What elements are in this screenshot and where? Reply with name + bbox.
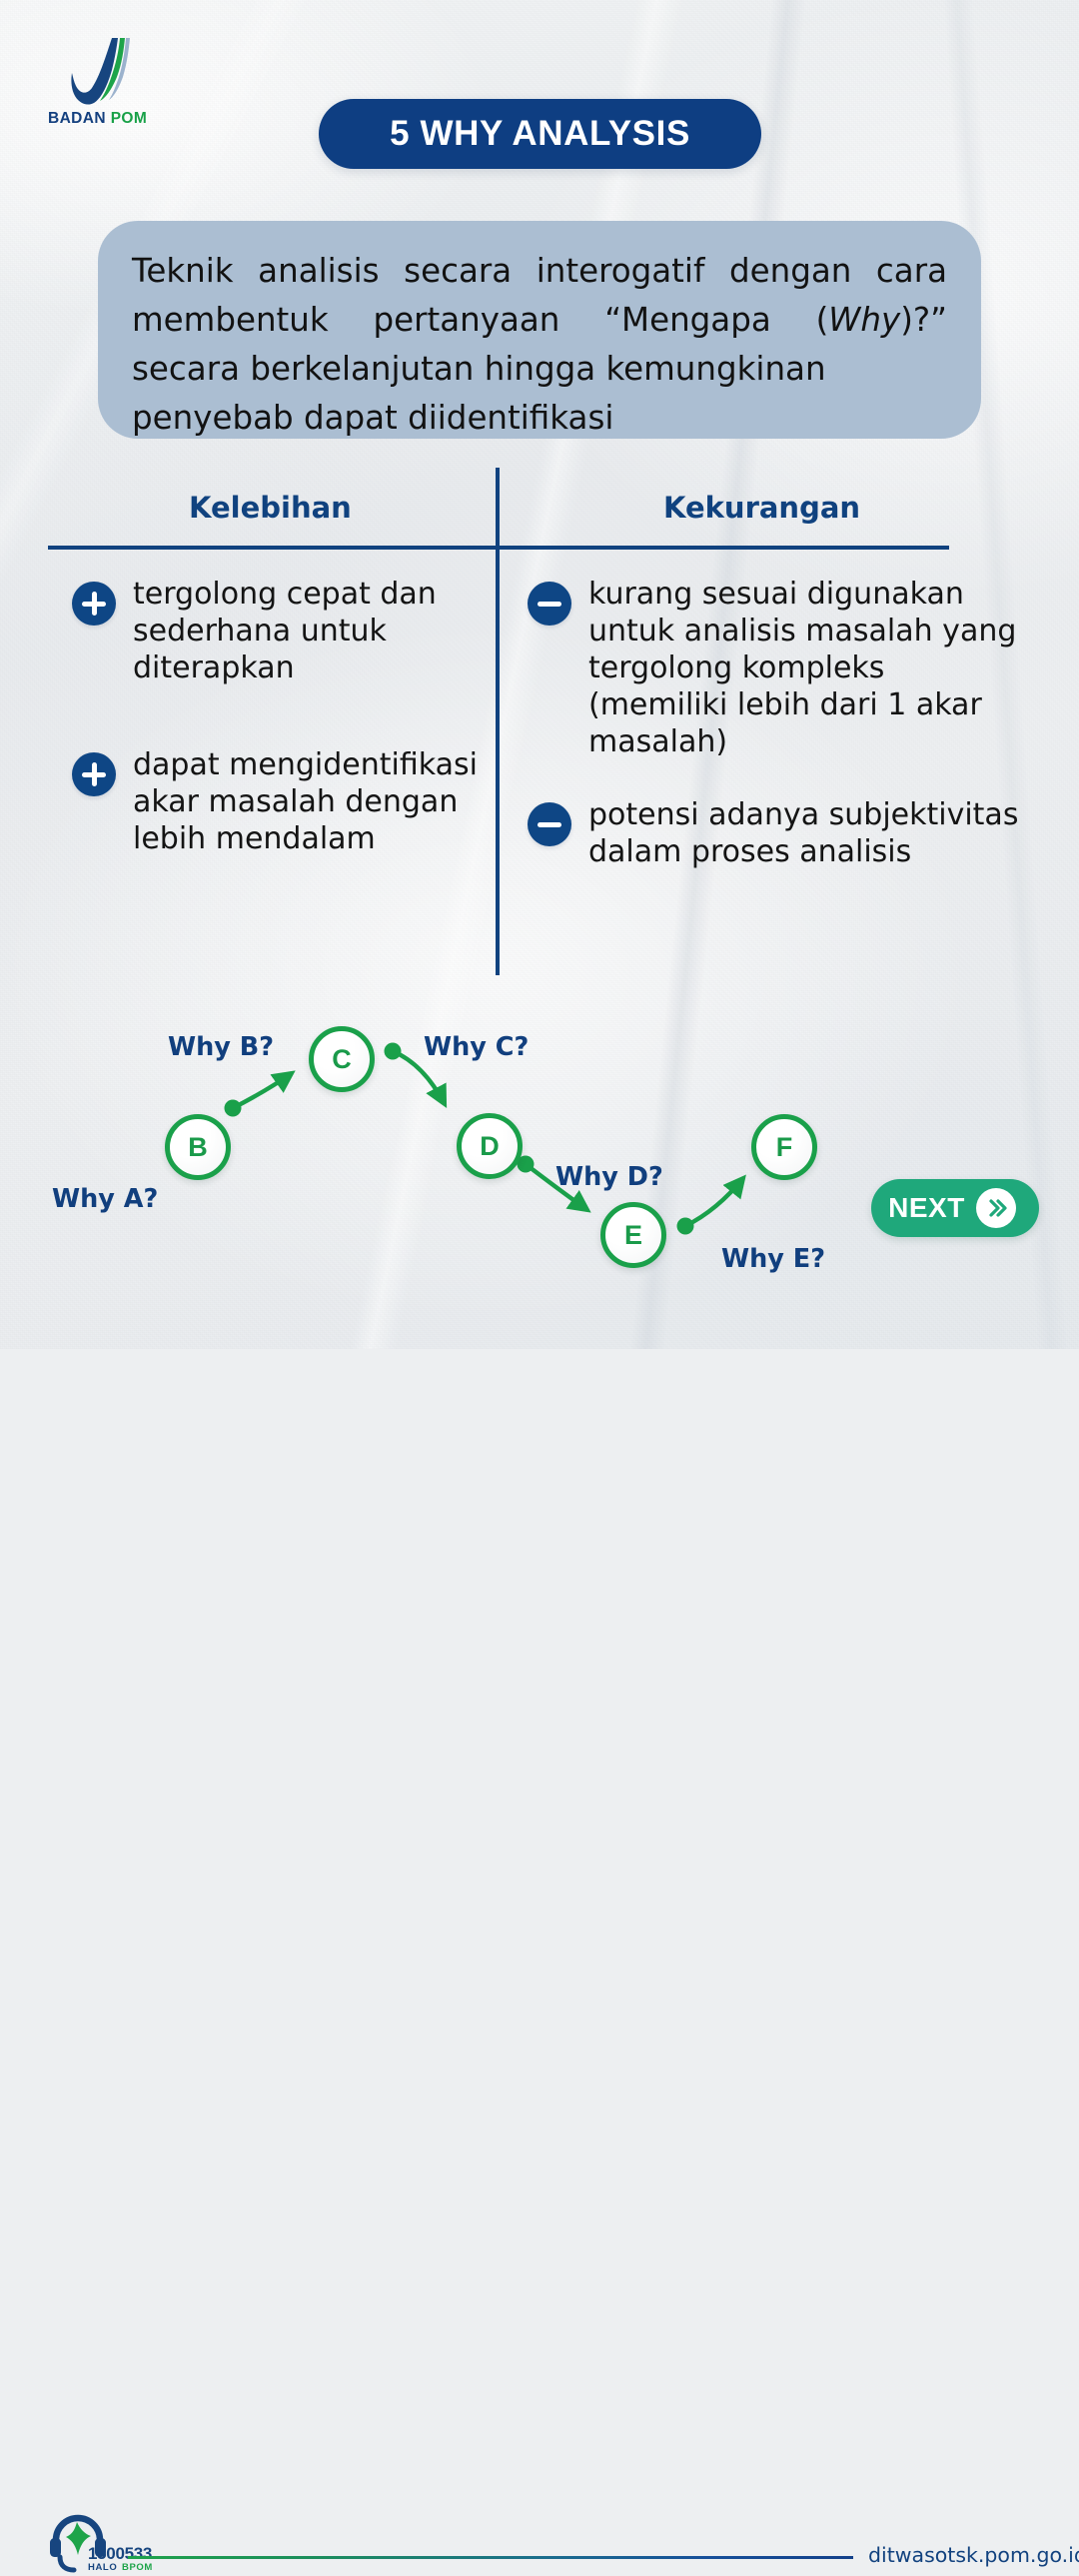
minus-icon xyxy=(528,802,571,846)
why-label-a: Why A? xyxy=(52,1184,158,1214)
footer: 1500533 HALO BPOM ditwasotsk.pom.go.id xyxy=(0,1254,1079,1349)
footer-divider xyxy=(128,2556,853,2559)
why-label-c: Why C? xyxy=(424,1032,529,1062)
column-divider-horizontal xyxy=(48,546,949,550)
bpom-wordmark-pom: POM xyxy=(111,110,148,127)
why-chain-connectors xyxy=(0,994,1079,1294)
description-text: Teknik analisis secara interogatif denga… xyxy=(132,247,947,443)
bpom-swoosh-icon xyxy=(62,36,154,108)
description-line-3: secara berkelanjutan hingga kemungkinan xyxy=(132,350,826,388)
list-item: potensi adanya subjektivitas dalam prose… xyxy=(528,796,1027,870)
footer-url: ditwasotsk.pom.go.id xyxy=(868,2543,1079,2567)
list-item: tergolong cepat dan sederhana untuk dite… xyxy=(72,576,496,686)
page-title-pill: 5 WHY ANALYSIS xyxy=(319,99,761,169)
list-item: dapat mengidentifikasi akar masalah deng… xyxy=(72,746,496,857)
list-item-label: kurang sesuai digunakan untuk analisis m… xyxy=(588,576,1027,760)
connector-start-dot-e xyxy=(677,1218,694,1235)
bpom-wordmark: BADAN POM xyxy=(48,110,218,128)
list-item: kurang sesuai digunakan untuk analisis m… xyxy=(528,576,1027,760)
halo-bpom-logo: 1500533 HALO BPOM xyxy=(47,2510,169,2576)
connector-start-dot-b xyxy=(225,1100,242,1117)
cons-list: kurang sesuai digunakan untuk analisis m… xyxy=(528,576,1027,870)
why-label-d: Why D? xyxy=(555,1162,663,1192)
why-label-b: Why B? xyxy=(168,1032,274,1062)
column-heading-cons: Kekurangan xyxy=(663,491,860,525)
description-panel: Teknik analisis secara interogatif denga… xyxy=(98,221,981,439)
bpom-wordmark-badan: BADAN xyxy=(48,110,106,127)
connector-start-dot-c xyxy=(385,1043,402,1060)
description-line-1: Teknik analisis secara interogatif denga… xyxy=(132,252,947,290)
description-line-2-italic: Why xyxy=(828,301,900,339)
why-node-label: F xyxy=(776,1134,793,1161)
headset-icon: 1500533 HALO BPOM xyxy=(47,2510,169,2576)
page-title: 5 WHY ANALYSIS xyxy=(390,114,690,154)
why-node-label: C xyxy=(332,1046,352,1073)
list-item-label: potensi adanya subjektivitas dalam prose… xyxy=(588,796,1027,870)
plus-icon xyxy=(72,752,116,796)
why-node-label: D xyxy=(480,1133,500,1160)
next-button[interactable]: NEXT xyxy=(871,1179,1039,1237)
list-item-label: tergolong cepat dan sederhana untuk dite… xyxy=(133,576,496,686)
minus-icon xyxy=(528,582,571,626)
double-chevron-right-icon xyxy=(976,1188,1016,1228)
why-node-b: B xyxy=(165,1114,231,1180)
why-node-c: C xyxy=(309,1026,375,1092)
pros-list: tergolong cepat dan sederhana untuk dite… xyxy=(72,576,496,857)
column-heading-pros: Kelebihan xyxy=(189,491,352,525)
column-divider-vertical xyxy=(496,468,500,975)
why-node-d: D xyxy=(457,1113,523,1179)
why-node-f: F xyxy=(751,1114,817,1180)
svg-text:1500533: 1500533 xyxy=(88,2544,152,2563)
next-button-label: NEXT xyxy=(888,1192,965,1224)
why-chain-diagram: B C D E F Why A? Why B? Why C? Why D? Wh… xyxy=(0,994,1079,1294)
bpom-logo: BADAN POM xyxy=(48,36,218,128)
list-item-label: dapat mengidentifikasi akar masalah deng… xyxy=(133,746,496,857)
why-node-label: E xyxy=(624,1222,642,1249)
description-line-2-pre: membentuk pertanyaan “Mengapa ( xyxy=(132,301,828,339)
description-line-4: penyebab dapat diidentifikasi xyxy=(132,394,947,443)
svg-text:BPOM: BPOM xyxy=(122,2562,153,2573)
why-node-label: B xyxy=(188,1134,208,1161)
svg-text:HALO: HALO xyxy=(88,2562,117,2573)
description-line-2-post: )?” xyxy=(900,301,947,339)
plus-icon xyxy=(72,582,116,626)
